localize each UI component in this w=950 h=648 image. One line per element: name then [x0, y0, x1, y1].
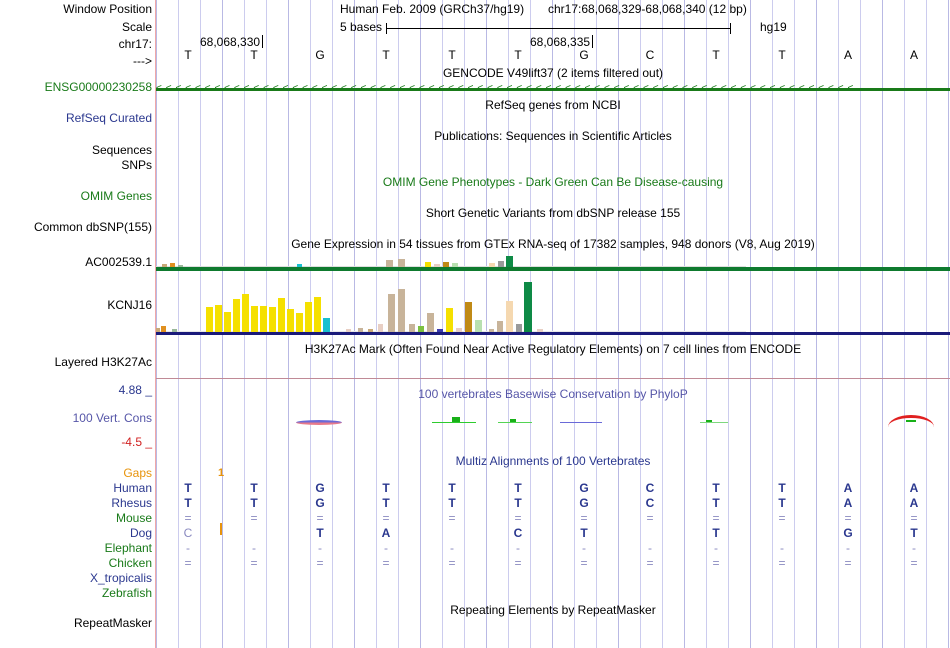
species-label-x_tropicalis[interactable]: X_tropicalis: [0, 571, 155, 585]
track-label-cons-min[interactable]: -4.5 _: [0, 435, 155, 449]
conservation-flat-mark: [560, 422, 602, 423]
track-label-cons-max[interactable]: 4.88 _: [0, 383, 155, 397]
track-label-snps[interactable]: SNPs: [0, 158, 155, 172]
alignment-row-mouse[interactable]: ============: [156, 511, 950, 526]
conservation-block-mark: [452, 417, 460, 422]
alignment-base: =: [646, 511, 653, 525]
alignment-base: G: [315, 496, 324, 510]
alignment-base: G: [579, 481, 588, 495]
species-label-dog[interactable]: Dog: [0, 526, 155, 540]
alignment-row-chicken[interactable]: ============: [156, 556, 950, 571]
alignment-base: T: [448, 496, 455, 510]
track-label-strand[interactable]: --->: [0, 54, 155, 68]
alignment-base: =: [250, 511, 257, 525]
caption-repeatmasker[interactable]: Repeating Elements by RepeatMasker: [156, 603, 950, 617]
alignment-base: T: [580, 526, 587, 540]
alignment-base: T: [382, 481, 389, 495]
track-label-ensg[interactable]: ENSG00000230258: [0, 80, 155, 94]
alignment-base: -: [648, 541, 652, 555]
gtex-bar-kcnj16[interactable]: [215, 305, 222, 332]
base-letter: T: [712, 48, 719, 62]
track-label-common-dbsnp[interactable]: Common dbSNP(155): [0, 220, 155, 234]
alignment-base: =: [514, 556, 521, 570]
gtex-bar-kcnj16[interactable]: [475, 320, 482, 332]
alignment-base: =: [646, 556, 653, 570]
alignment-base: C: [646, 481, 655, 495]
alignment-base: =: [778, 556, 785, 570]
base-letter: T: [448, 48, 455, 62]
caption-gtex[interactable]: Gene Expression in 54 tissues from GTEx …: [156, 237, 950, 251]
base-letter: A: [844, 48, 852, 62]
conservation-flat-mark: [498, 422, 532, 423]
gtex-bar-kcnj16[interactable]: [251, 306, 258, 332]
alignment-base: T: [712, 526, 719, 540]
alignment-base: -: [450, 541, 454, 555]
alignment-base: -: [384, 541, 388, 555]
alignment-base: G: [579, 496, 588, 510]
ac002539-gene-line[interactable]: [156, 267, 950, 271]
ruler-tick-1: 68,068,335: [530, 35, 593, 49]
alignment-row-rhesus[interactable]: TTGTTTGCTTAA: [156, 496, 950, 511]
alignment-base: A: [844, 496, 853, 510]
gtex-bar-kcnj16[interactable]: [314, 297, 321, 332]
gtex-bar-kcnj16[interactable]: [278, 298, 285, 332]
species-label-rhesus[interactable]: Rhesus: [0, 496, 155, 510]
gtex-bar-kcnj16[interactable]: [378, 324, 383, 332]
gtex-bar-kcnj16[interactable]: [398, 289, 405, 332]
gtex-bar-kcnj16[interactable]: [427, 313, 434, 332]
gap-bar: [220, 523, 222, 535]
track-label-repeatmasker[interactable]: RepeatMasker: [0, 616, 155, 630]
gtex-bar-kcnj16[interactable]: [497, 321, 503, 332]
alignment-base: T: [382, 496, 389, 510]
alignment-base: -: [186, 541, 190, 555]
genome-browser-page: Human Feb. 2009 (GRCh37/hg19) chr17:68,0…: [0, 0, 950, 648]
track-label-omim-genes[interactable]: OMIM Genes: [0, 189, 155, 203]
base-letter: T: [382, 48, 389, 62]
base-letter: C: [646, 48, 655, 62]
alignment-base: =: [514, 511, 521, 525]
alignment-row-x_tropicalis[interactable]: [156, 571, 950, 586]
gtex-bar-kcnj16[interactable]: [287, 309, 294, 332]
conservation-block-mark: [706, 420, 712, 422]
gtex-bar-kcnj16[interactable]: [323, 318, 330, 332]
track-label-scale[interactable]: Scale: [0, 20, 155, 34]
conservation-flat-mark: [432, 422, 476, 423]
alignment-base: T: [514, 481, 521, 495]
scale-bar: [386, 20, 731, 36]
alignment-base: T: [514, 496, 521, 510]
alignment-base: =: [844, 556, 851, 570]
alignment-row-human[interactable]: TTGTTTGCTTAA: [156, 481, 950, 496]
caption-publications[interactable]: Publications: Sequences in Scientific Ar…: [156, 129, 950, 143]
kcnj16-baseline: [156, 332, 950, 335]
track-label-refseq-curated[interactable]: RefSeq Curated: [0, 111, 155, 125]
alignment-base: A: [910, 481, 919, 495]
alignment-base: -: [912, 541, 916, 555]
alignment-base: =: [382, 511, 389, 525]
alignment-base: =: [448, 556, 455, 570]
caption-omim[interactable]: OMIM Gene Phenotypes - Dark Green Can Be…: [156, 175, 950, 189]
base-letter: T: [184, 48, 191, 62]
species-label-zebrafish[interactable]: Zebrafish: [0, 586, 155, 600]
alignment-base: -: [582, 541, 586, 555]
track-label-window-position[interactable]: Window Position: [0, 2, 155, 16]
alignment-base: T: [250, 481, 257, 495]
gtex-bar-kcnj16[interactable]: [388, 294, 395, 332]
alignment-row-zebrafish[interactable]: [156, 586, 950, 601]
alignment-base: =: [448, 511, 455, 525]
alignment-base: -: [780, 541, 784, 555]
base-letter: G: [315, 48, 324, 62]
alignment-base: A: [844, 481, 853, 495]
alignment-base: T: [712, 481, 719, 495]
alignment-base: -: [714, 541, 718, 555]
species-label-chicken[interactable]: Chicken: [0, 556, 155, 570]
position-label[interactable]: chr17:68,068,329-68,068,340 (12 bp): [548, 2, 747, 16]
conservation-block-mark: [906, 420, 916, 422]
alignment-base: T: [778, 481, 785, 495]
gtex-ac002539-bars[interactable]: [156, 250, 950, 268]
alignment-row-dog[interactable]: CTACTTGT: [156, 526, 950, 541]
track-label-sequences[interactable]: Sequences: [0, 143, 155, 157]
gap-count-label: 1: [218, 467, 224, 479]
conservation-block-mark: [510, 419, 516, 422]
caption-phylop[interactable]: 100 vertebrates Basewise Conservation by…: [156, 387, 950, 401]
alignment-base: C: [184, 526, 193, 540]
alignment-base: =: [910, 511, 917, 525]
alignment-base: =: [316, 511, 323, 525]
alignment-base: C: [514, 526, 523, 540]
alignment-base: C: [646, 496, 655, 510]
database-label: hg19: [760, 20, 787, 34]
alignment-base: T: [778, 496, 785, 510]
base-letter: T: [514, 48, 521, 62]
conservation-flat-mark: [700, 422, 728, 423]
base-letter: T: [250, 48, 257, 62]
alignment-base: T: [712, 496, 719, 510]
conservation-lens-mark: [296, 420, 342, 425]
alignment-base: =: [184, 556, 191, 570]
track-label-chrom[interactable]: chr17:: [0, 37, 155, 51]
alignment-base: =: [382, 556, 389, 570]
ruler-tick-mark: [592, 35, 593, 48]
ruler-tick-0: 68,068,330: [200, 35, 263, 49]
track-label-vert-cons[interactable]: 100 Vert. Cons: [0, 411, 155, 425]
caption-dbsnp[interactable]: Short Genetic Variants from dbSNP releas…: [156, 206, 950, 220]
alignment-row-elephant[interactable]: ------------: [156, 541, 950, 556]
base-letter: A: [910, 48, 918, 62]
species-label-elephant[interactable]: Elephant: [0, 541, 155, 555]
alignment-base: -: [846, 541, 850, 555]
gtex-bar-kcnj16[interactable]: [524, 282, 532, 332]
alignment-base: =: [184, 511, 191, 525]
track-label-gaps[interactable]: Gaps: [0, 466, 155, 480]
gtex-bar-kcnj16[interactable]: [516, 324, 522, 332]
base-letter: G: [579, 48, 588, 62]
ensg-strand-arrows: <<<<<<<<<<<<<<<<<<<<<<<<<<<<<<<<<<<<<<<<…: [156, 83, 950, 95]
gtex-bar-kcnj16[interactable]: [206, 307, 213, 332]
caption-multiz[interactable]: Multiz Alignments of 100 Vertebrates: [156, 454, 950, 468]
alignment-base: =: [712, 556, 719, 570]
gtex-bar-kcnj16[interactable]: [409, 324, 415, 332]
alignment-base: =: [910, 556, 917, 570]
scale-bases-label: 5 bases: [340, 20, 382, 34]
alignment-base: T: [184, 496, 191, 510]
gtex-bar-kcnj16[interactable]: [224, 312, 231, 332]
alignment-base: =: [778, 511, 785, 525]
alignment-base: A: [910, 496, 919, 510]
alignment-base: =: [580, 511, 587, 525]
gtex-kcnj16-bars[interactable]: [156, 272, 950, 332]
gtex-bar-kcnj16[interactable]: [506, 301, 513, 332]
base-letter: T: [778, 48, 785, 62]
gtex-bar-kcnj16[interactable]: [305, 302, 312, 332]
alignment-base: T: [184, 481, 191, 495]
ruler-tick-mark: [262, 35, 263, 48]
gtex-bar-kcnj16[interactable]: [233, 299, 240, 332]
track-label-ac002539[interactable]: AC002539.1: [0, 255, 155, 269]
gtex-bar-kcnj16[interactable]: [260, 306, 267, 332]
alignment-base: T: [250, 496, 257, 510]
alignment-base: T: [910, 526, 917, 540]
gtex-bar-kcnj16[interactable]: [269, 307, 276, 332]
gtex-bar-kcnj16[interactable]: [296, 313, 303, 332]
alignment-base: G: [843, 526, 852, 540]
alignment-base: G: [315, 481, 324, 495]
alignment-base: =: [712, 511, 719, 525]
alignment-base: T: [316, 526, 323, 540]
caption-refseq_ncbi[interactable]: RefSeq genes from NCBI: [156, 98, 950, 112]
alignment-base: -: [318, 541, 322, 555]
alignment-base: A: [382, 526, 391, 540]
track-label-kcnj16[interactable]: KCNJ16: [0, 298, 155, 312]
alignment-base: =: [580, 556, 587, 570]
alignment-base: =: [316, 556, 323, 570]
conservation-top-border: [156, 378, 950, 379]
alignment-base: -: [252, 541, 256, 555]
alignment-base: =: [844, 511, 851, 525]
gtex-bar-kcnj16[interactable]: [446, 308, 453, 332]
assembly-label: Human Feb. 2009 (GRCh37/hg19): [340, 2, 524, 16]
alignment-base: =: [250, 556, 257, 570]
alignment-base: -: [516, 541, 520, 555]
alignment-base: T: [448, 481, 455, 495]
track-label-column: Window PositionScalechr17:--->ENSG000002…: [0, 0, 155, 648]
caption-h3k27ac[interactable]: H3K27Ac Mark (Often Found Near Active Re…: [156, 342, 950, 356]
gtex-bar-kcnj16[interactable]: [465, 302, 472, 332]
base-sequence-row: TTGTTTGCTTAA: [156, 48, 950, 64]
track-label-layered-h3k27ac[interactable]: Layered H3K27Ac: [0, 355, 155, 369]
caption-gencode[interactable]: GENCODE V49lift37 (2 items filtered out): [156, 66, 950, 80]
species-label-mouse[interactable]: Mouse: [0, 511, 155, 525]
species-label-human[interactable]: Human: [0, 481, 155, 495]
gtex-bar-kcnj16[interactable]: [242, 294, 249, 332]
